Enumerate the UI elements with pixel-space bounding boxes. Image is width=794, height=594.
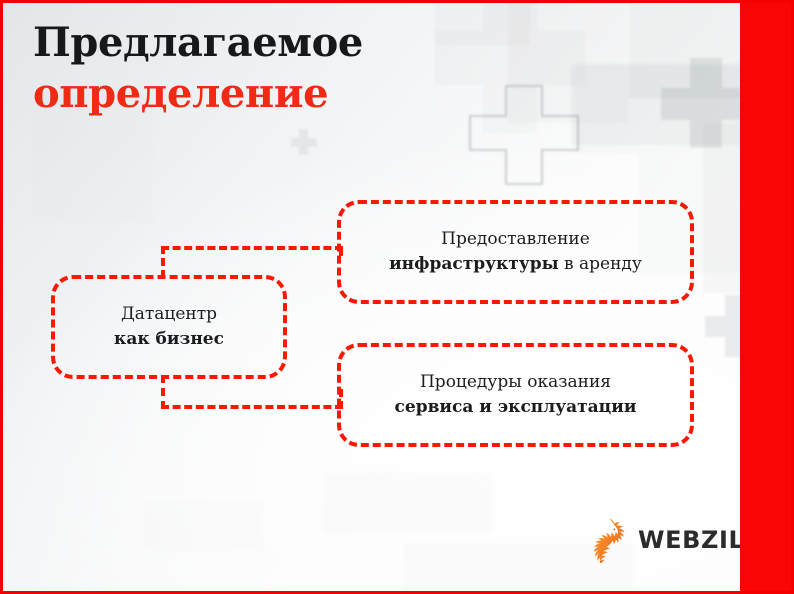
connector-lower-vertical-left (161, 375, 165, 409)
conference-brand-text: HighLoad++ Junior (728, 417, 766, 594)
watermark-rect (323, 473, 493, 533)
flow-node-procedures: Процедуры оказания сервиса и эксплуатаци… (337, 343, 694, 447)
webzilla-logo: WEBZILLA (589, 512, 729, 567)
dragon-head-icon (589, 517, 631, 563)
datacenter-line-2: как бизнес (114, 329, 224, 349)
flow-node-infrastructure-text: Предоставление инфраструктуры в аренду (389, 227, 642, 277)
watermark-plus-icon (661, 58, 751, 148)
connector-lower-horizontal (161, 405, 343, 409)
presentation-slide: Предлагаемое определение Датацентр как б… (0, 0, 794, 594)
datacenter-line-1: Датацентр (121, 304, 217, 324)
title-line-2: определение (33, 68, 363, 119)
flow-node-datacenter-text: Датацентр как бизнес (114, 302, 224, 352)
watermark-plus-outline-icon (469, 85, 579, 185)
flow-node-datacenter: Датацентр как бизнес (51, 275, 287, 379)
connector-upper-horizontal (161, 246, 343, 250)
infrastructure-line-2-bold: инфраструктуры (389, 254, 559, 274)
procedures-line-1: Процедуры оказания (420, 372, 611, 392)
procedures-line-2: сервиса и эксплуатации (395, 397, 637, 417)
flow-node-procedures-text: Процедуры оказания сервиса и эксплуатаци… (395, 370, 637, 420)
flow-node-infrastructure: Предоставление инфраструктуры в аренду (337, 200, 694, 304)
title-line-1: Предлагаемое (33, 17, 363, 68)
watermark-plus-icon (291, 129, 317, 155)
infrastructure-line-1: Предоставление (441, 229, 590, 249)
watermark-rect (143, 501, 263, 551)
connector-upper-vertical-left (161, 246, 165, 278)
infrastructure-line-2-tail: в аренду (559, 254, 642, 274)
conference-brand-rail: HighLoad++ Junior (740, 3, 791, 591)
slide-title: Предлагаемое определение (33, 17, 363, 119)
